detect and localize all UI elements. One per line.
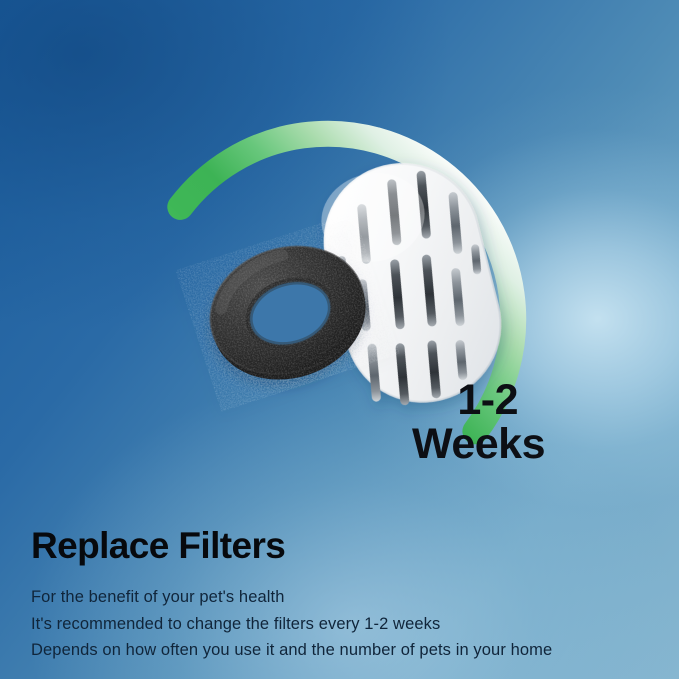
- copy-line-2: It's recommended to change the filters e…: [31, 611, 631, 638]
- duration-range: 1-2: [330, 378, 545, 422]
- copy-line-3: Depends on how often you use it and the …: [31, 637, 631, 664]
- page-title: Replace Filters: [31, 527, 631, 566]
- copy-block: Replace Filters For the benefit of your …: [31, 527, 631, 664]
- duration-badge: 1-2 Weeks: [330, 378, 545, 467]
- duration-unit: Weeks: [330, 422, 545, 466]
- product-infographic: 1-2 Weeks Replace Filters For the benefi…: [0, 0, 679, 679]
- copy-line-1: For the benefit of your pet's health: [31, 584, 631, 611]
